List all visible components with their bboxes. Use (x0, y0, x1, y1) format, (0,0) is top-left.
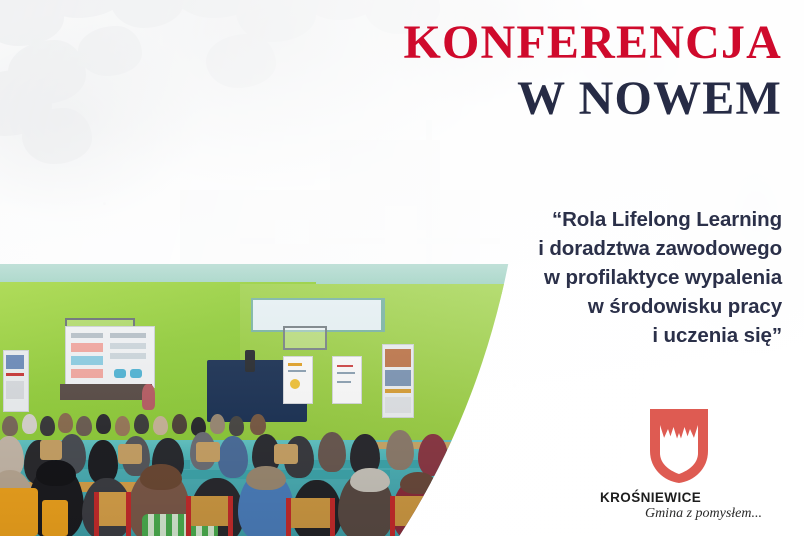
krosniewice-logo: KROŚNIEWICE Gmina z pomysłem... (594, 407, 764, 522)
subtitle-line-3: w profilaktyce wypalenia (352, 263, 782, 292)
headline-line-1: KONFERENCJA (222, 18, 782, 68)
coat-of-arms-shield-icon (648, 407, 710, 485)
conference-poster: KONFERENCJA W NOWEM “Rola Lifelong Learn… (0, 0, 804, 536)
page-title: KONFERENCJA W NOWEM (222, 18, 782, 125)
logo-slogan: Gmina z pomysłem... (594, 506, 764, 522)
subtitle-line-1: “Rola Lifelong Learning (352, 205, 782, 234)
subtitle-line-5: i uczenia się” (352, 321, 782, 350)
logo-municipality-name: KROŚNIEWICE (594, 490, 764, 505)
subtitle-quote: “Rola Lifelong Learning i doradztwa zawo… (352, 205, 782, 351)
subtitle-line-2: i doradztwa zawodowego (352, 234, 782, 263)
subtitle-line-4: w środowisku pracy (352, 292, 782, 321)
headline-line-2: W NOWEM (222, 74, 782, 124)
